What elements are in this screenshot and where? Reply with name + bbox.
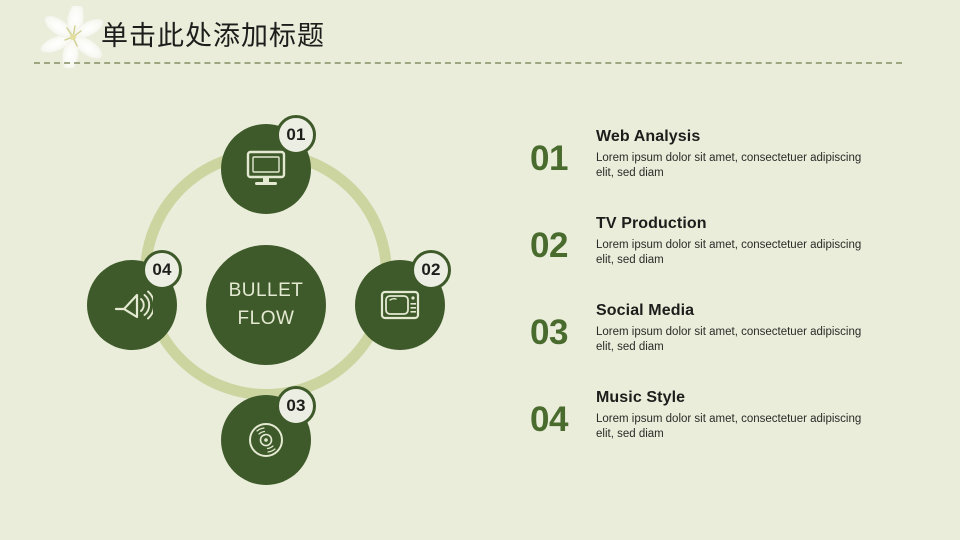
bullet-flow-diagram: BULLET FLOW 01 [90, 100, 490, 500]
list-item-number: 03 [530, 313, 592, 353]
list-item[interactable]: 02 TV Production Lorem ipsum dolor sit a… [530, 213, 910, 300]
diagram-hub-label: BULLET FLOW [227, 277, 305, 333]
page-title: 单击此处添加标题 [101, 19, 325, 55]
slide-canvas: 单击此处添加标题 BULLET FLOW 01 [0, 0, 960, 540]
list-item-body: Music Style Lorem ipsum dolor sit amet, … [596, 387, 896, 442]
diagram-badge-04[interactable]: 04 [142, 250, 182, 290]
list-item-description: Lorem ipsum dolor sit amet, consectetuer… [596, 325, 864, 355]
list-item-description: Lorem ipsum dolor sit amet, consectetuer… [596, 412, 864, 442]
list-item-description: Lorem ipsum dolor sit amet, consectetuer… [596, 151, 864, 181]
diagram-hub: BULLET FLOW [206, 245, 326, 365]
list-item-body: Web Analysis Lorem ipsum dolor sit amet,… [596, 126, 896, 181]
list-item-title: Music Style [596, 387, 896, 409]
speaker-volume-icon [111, 286, 153, 324]
feature-list: 01 Web Analysis Lorem ipsum dolor sit am… [530, 126, 910, 474]
diagram-badge-03[interactable]: 03 [276, 386, 316, 426]
list-item-number: 02 [530, 226, 592, 266]
header-divider [34, 62, 902, 64]
list-item-number: 04 [530, 400, 592, 440]
list-item-body: TV Production Lorem ipsum dolor sit amet… [596, 213, 896, 268]
list-item-number: 01 [530, 139, 592, 179]
diagram-badge-02[interactable]: 02 [411, 250, 451, 290]
slide-header: 单击此处添加标题 [0, 0, 960, 80]
list-item-title: Web Analysis [596, 126, 896, 148]
television-icon [380, 289, 420, 321]
list-item-title: Social Media [596, 300, 896, 322]
vinyl-record-icon [246, 420, 286, 460]
list-item[interactable]: 01 Web Analysis Lorem ipsum dolor sit am… [530, 126, 910, 213]
diagram-badge-01[interactable]: 01 [276, 115, 316, 155]
list-item-description: Lorem ipsum dolor sit amet, consectetuer… [596, 238, 864, 268]
list-item[interactable]: 04 Music Style Lorem ipsum dolor sit ame… [530, 387, 910, 474]
list-item[interactable]: 03 Social Media Lorem ipsum dolor sit am… [530, 300, 910, 387]
desktop-monitor-icon [245, 150, 287, 188]
list-item-body: Social Media Lorem ipsum dolor sit amet,… [596, 300, 896, 355]
list-item-title: TV Production [596, 213, 896, 235]
